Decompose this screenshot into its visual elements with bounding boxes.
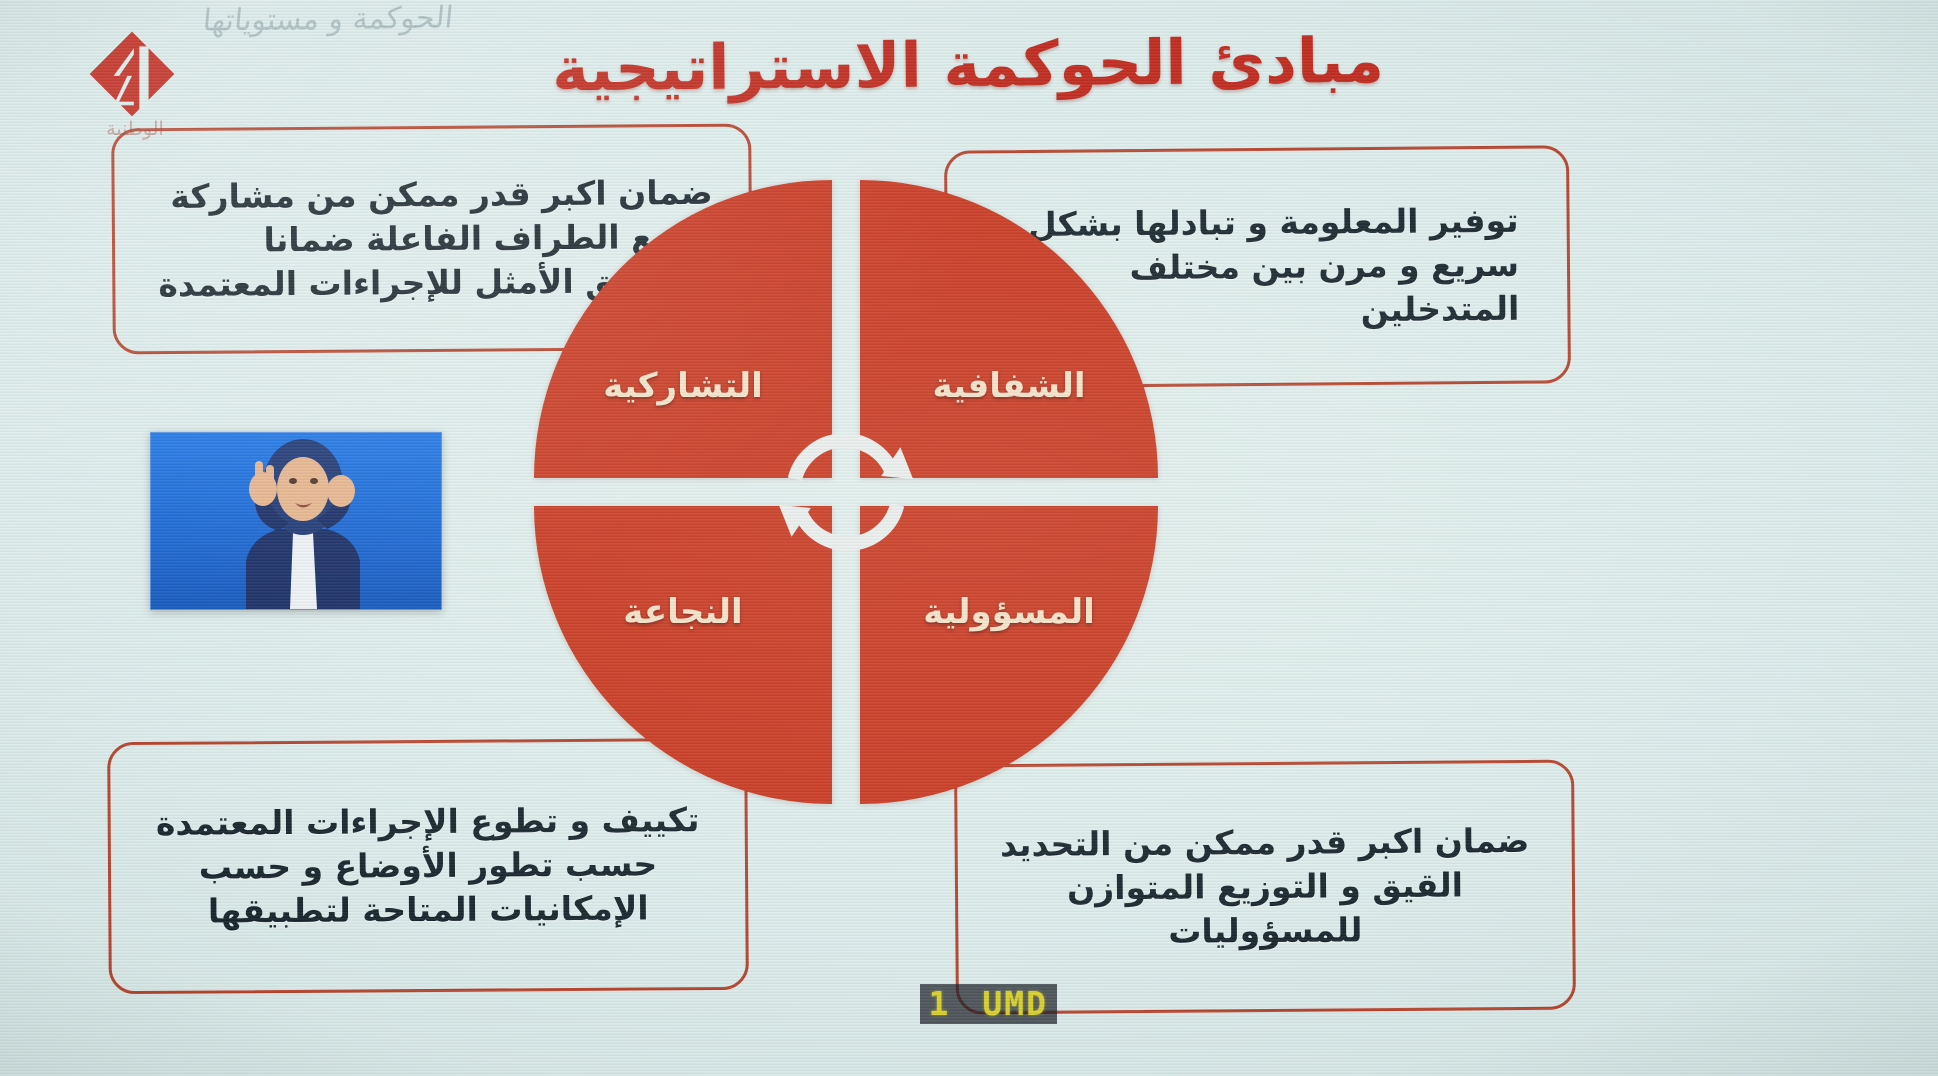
quadrant-responsibility: المسؤولية: [860, 506, 1158, 804]
quadrant-transparency-label: الشفافية: [860, 366, 1158, 406]
quadrant-efficacy: النجاعة: [534, 506, 832, 804]
quadrant-responsibility-label: المسؤولية: [860, 592, 1158, 632]
info-box-responsibility-text: ضمان اكبر قدر ممكن من التحديد القيق و ال…: [983, 819, 1546, 955]
channel-bug-number: 1: [920, 984, 960, 1024]
channel-bug-spacer: [959, 984, 973, 1024]
channel-logo-icon: [86, 28, 178, 120]
governance-circle-diagram: الشفافية التشاركية النجاعة المسؤولية: [534, 180, 1158, 804]
signer-figure: [151, 433, 441, 609]
quadrant-efficacy-label: النجاعة: [534, 592, 832, 632]
slide-title: مبادئ الحوكمة الاستراتيجية: [468, 23, 1469, 106]
quadrant-participation: التشاركية: [534, 180, 832, 478]
quadrant-participation-label: التشاركية: [534, 366, 832, 406]
quadrant-transparency: الشفافية: [860, 180, 1158, 478]
info-box-efficacy-text: تكييف و تطوع الإجراءات المعتمدة حسب تطور…: [137, 798, 720, 934]
channel-bug-name: UMD: [973, 984, 1057, 1024]
sign-language-interpreter-inset: [150, 432, 442, 610]
channel-logo-caption: الوطنية: [70, 118, 200, 140]
channel-bug: UMD 1: [920, 984, 1057, 1024]
slide-screenshot: الحوكمة و مستوياتها مبادئ الحوكمة الاستر…: [0, 0, 1938, 1076]
